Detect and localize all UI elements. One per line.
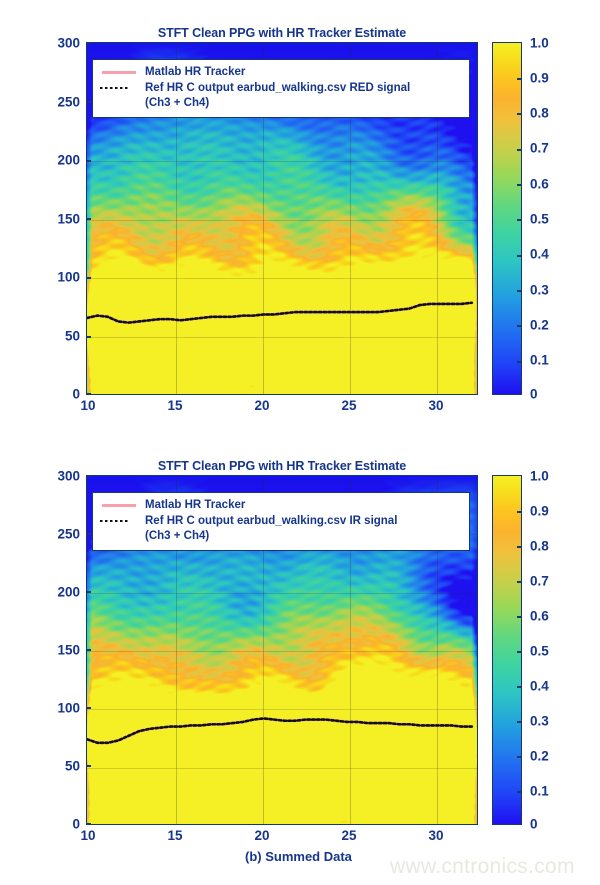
- legend-row: (Ch3 + Ch4): [99, 529, 461, 544]
- panel-ir-ytick-50: 50: [26, 759, 80, 774]
- panel-ir-xtick-15: 15: [167, 828, 182, 843]
- panel-red-xtick-10: 10: [80, 398, 95, 413]
- panel-red-ytick-0: 0: [26, 387, 80, 402]
- panel-red-cbar-label-0.6: 0.6: [530, 177, 549, 192]
- panel-ir-ytick-100: 100: [26, 701, 80, 716]
- panel-red-cbar-label-0.4: 0.4: [530, 247, 549, 262]
- solid-line-swatch-icon: [99, 65, 139, 79]
- ref-hr-line: [87, 718, 472, 742]
- legend-label: Ref HR C output earbud_walking.csv IR si…: [145, 514, 397, 529]
- panel-ir-xtick-10: 10: [80, 828, 95, 843]
- panel-ir-ytick-200: 200: [26, 585, 80, 600]
- panel-ir-cbar-label-0.7: 0.7: [530, 574, 549, 589]
- tick: [517, 791, 521, 793]
- dotted-line-swatch-icon: [99, 514, 139, 528]
- panel-ir-ytick-300: 300: [26, 469, 80, 484]
- panel-red-ytick-300: 300: [26, 36, 80, 51]
- tick: [517, 290, 521, 292]
- panel-red-xtick-30: 30: [428, 398, 443, 413]
- panel-red-ytick-50: 50: [26, 329, 80, 344]
- legend-label: Ref HR C output earbud_walking.csv RED s…: [145, 81, 410, 96]
- stft-figure: STFT Clean PPG with HR Tracker Estimate …: [0, 0, 600, 885]
- legend-spacer: [99, 96, 139, 110]
- legend-spacer: [99, 529, 139, 543]
- panel-ir-cbar-label-0.4: 0.4: [530, 679, 549, 694]
- panel-red-cbar-label-0.8: 0.8: [530, 106, 549, 121]
- tick: [517, 721, 521, 723]
- panel-ir-cbar-label-0.8: 0.8: [530, 539, 549, 554]
- tick: [517, 686, 521, 688]
- panel-ir-xtick-25: 25: [341, 828, 356, 843]
- panel-ir-cbar-label-0.9: 0.9: [530, 504, 549, 519]
- panel-ir-xtick-30: 30: [428, 828, 443, 843]
- panel-red-cbar-label-0: 0: [530, 387, 538, 402]
- legend-label: (Ch3 + Ch4): [145, 529, 209, 544]
- watermark: www.cntronics.com: [390, 855, 575, 879]
- panel-red-cbar-label-0.5: 0.5: [530, 212, 549, 227]
- panel-ir-ytick-150: 150: [26, 643, 80, 658]
- panel-red-colorbar: [492, 42, 522, 395]
- panel-red-legend: Matlab HR Tracker Ref HR C output earbud…: [92, 59, 470, 118]
- panel-ir-cbar-label-0.6: 0.6: [530, 609, 549, 624]
- legend-label: (Ch3 + Ch4): [145, 96, 209, 111]
- panel-ir-xtick-20: 20: [254, 828, 269, 843]
- tick: [517, 511, 521, 513]
- tick: [517, 756, 521, 758]
- legend-row: Ref HR C output earbud_walking.csv RED s…: [99, 81, 461, 96]
- panel-ir-ytick-0: 0: [26, 817, 80, 832]
- panel-red-cbar-label-0.9: 0.9: [530, 71, 549, 86]
- tick: [517, 361, 521, 363]
- legend-label: Matlab HR Tracker: [145, 65, 245, 80]
- panel-red-cbar-label-0.1: 0.1: [530, 353, 549, 368]
- panel-ir-ytick-250: 250: [26, 527, 80, 542]
- tick: [517, 581, 521, 583]
- legend-row: (Ch3 + Ch4): [99, 96, 461, 111]
- tick: [517, 651, 521, 653]
- legend-label: Matlab HR Tracker: [145, 498, 245, 513]
- panel-ir-cbar-label-1.0: 1.0: [530, 469, 549, 484]
- panel-red-cbar-label-1.0: 1.0: [530, 36, 549, 51]
- panel-ir-legend: Matlab HR Tracker Ref HR C output earbud…: [92, 492, 470, 551]
- panel-red-ytick-200: 200: [26, 153, 80, 168]
- panel-red-xtick-20: 20: [254, 398, 269, 413]
- panel-ir-cbar-label-0.3: 0.3: [530, 714, 549, 729]
- legend-row: Ref HR C output earbud_walking.csv IR si…: [99, 514, 461, 529]
- tick: [517, 78, 521, 80]
- panel-ir-colorbar: [492, 475, 522, 825]
- tick: [517, 255, 521, 257]
- panel-red-ytick-100: 100: [26, 270, 80, 285]
- panel-ir-title: STFT Clean PPG with HR Tracker Estimate: [86, 459, 478, 473]
- panel-ir-cbar-label-0.2: 0.2: [530, 749, 549, 764]
- panel-ir-cbar-label-0.1: 0.1: [530, 784, 549, 799]
- tick: [517, 219, 521, 221]
- tick: [517, 113, 521, 115]
- tick: [517, 184, 521, 186]
- solid-line-swatch-icon: [99, 498, 139, 512]
- legend-row: Matlab HR Tracker: [99, 65, 461, 80]
- tick: [517, 325, 521, 327]
- panel-red-xtick-25: 25: [341, 398, 356, 413]
- panel-ir-cbar-label-0: 0: [530, 817, 538, 832]
- tick: [517, 616, 521, 618]
- figure-caption: (b) Summed Data: [245, 849, 352, 864]
- panel-ir-cbar-label-0.5: 0.5: [530, 644, 549, 659]
- tick: [517, 546, 521, 548]
- tick: [517, 149, 521, 151]
- panel-red-ytick-150: 150: [26, 212, 80, 227]
- panel-red-cbar-label-0.3: 0.3: [530, 283, 549, 298]
- dotted-line-swatch-icon: [99, 81, 139, 95]
- panel-red-cbar-label-0.2: 0.2: [530, 318, 549, 333]
- legend-row: Matlab HR Tracker: [99, 498, 461, 513]
- panel-red-ytick-250: 250: [26, 95, 80, 110]
- panel-red-cbar-label-0.7: 0.7: [530, 141, 549, 156]
- panel-red-title: STFT Clean PPG with HR Tracker Estimate: [86, 26, 478, 40]
- panel-red-xtick-15: 15: [167, 398, 182, 413]
